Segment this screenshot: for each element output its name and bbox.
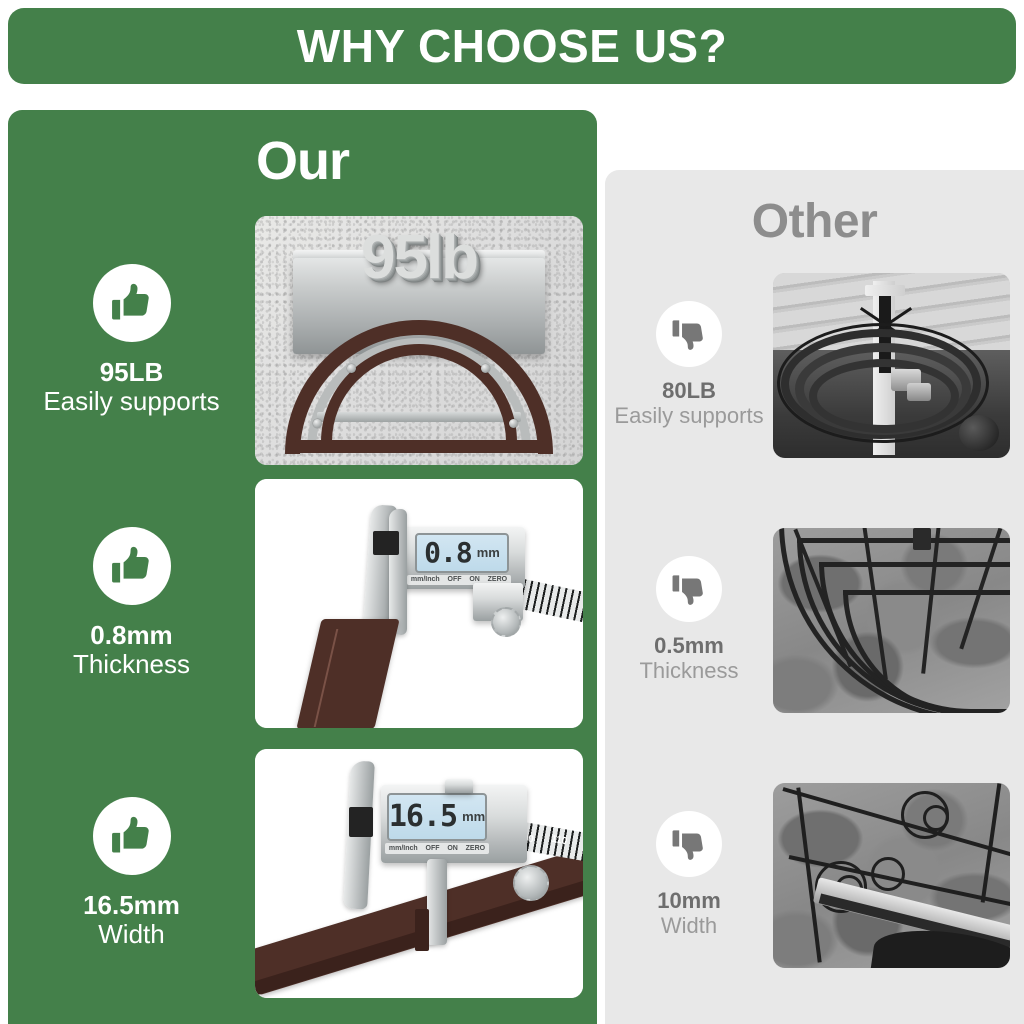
other-row-1-value: 80LB [614, 379, 763, 404]
other-row-2-value: 0.5mm [639, 634, 738, 659]
our-row-2: 0.8mm Thickness 0.8 mm mm/Inch [8, 478, 597, 728]
our-row-1-info: 95LB Easily supports [8, 264, 255, 416]
page-title: WHY CHOOSE US? [297, 23, 727, 69]
other-row-2-info: 0.5mm Thickness [605, 556, 773, 683]
other-row-1: 80LB Easily supports [605, 270, 1024, 460]
other-panel: Other 80LB Easily supports [605, 170, 1024, 1024]
caliper-btn-on: ON [447, 845, 458, 852]
our-panel-heading: Our [8, 130, 597, 192]
our-row-2-metric: 0.8mm Thickness [73, 621, 190, 679]
other-row-2: 0.5mm Thickness [605, 525, 1024, 715]
our-row-2-info: 0.8mm Thickness [8, 527, 255, 679]
other-row-3-info: 10mm Width [605, 811, 773, 938]
scrollwork-basket-photo [773, 783, 1010, 968]
our-row-1-metric: 95LB Easily supports [43, 358, 219, 416]
load-weight-label: 95lb [255, 222, 583, 293]
other-row-3-metric: 10mm Width [657, 889, 721, 938]
our-row-3-metric: 16.5mm Width [83, 891, 180, 949]
caliper-btn-mm-inch: mm/Inch [411, 576, 440, 583]
thumbs-up-icon [93, 264, 171, 342]
our-row-1: 95LB Easily supports [8, 215, 597, 465]
our-panel: Our 95LB Easily supports [8, 110, 597, 1024]
header-banner: WHY CHOOSE US? [8, 8, 1016, 84]
caliper-thickness-photo: 0.8 mm mm/Inch OFF ON ZERO [255, 479, 583, 728]
our-row-3-value: 16.5mm [83, 891, 180, 920]
other-row-3-value: 10mm [657, 889, 721, 914]
caliper-scale-mark-110: 110 [550, 833, 568, 847]
our-row-3-desc: Width [83, 920, 180, 949]
caliper-reading-width: 16.5 [389, 799, 457, 834]
other-row-2-desc: Thickness [639, 659, 738, 684]
caliper-btn-mm-inch: mm/Inch [389, 845, 418, 852]
other-row-1-info: 80LB Easily supports [605, 301, 773, 428]
thumbs-down-icon [656, 556, 722, 622]
rusty-wire-basket-photo [773, 528, 1010, 713]
caliper-reading-thickness: 0.8 [424, 536, 472, 569]
other-panel-heading: Other [605, 194, 1024, 249]
other-row-3: 10mm Width [605, 778, 1024, 972]
caliper-width-photo: 100 110 16.5 mm mm/Inch OFF ON ZERO [255, 749, 583, 998]
caliper-btn-on: ON [469, 576, 480, 583]
caliper-btn-zero: ZERO [466, 845, 485, 852]
our-row-1-desc: Easily supports [43, 387, 219, 416]
bracket-load-test-95lb-photo: 95lb [255, 216, 583, 465]
our-row-2-desc: Thickness [73, 650, 190, 679]
thumbs-down-icon [656, 301, 722, 367]
thumbs-up-icon [93, 797, 171, 875]
our-row-2-value: 0.8mm [73, 621, 190, 650]
caliper-btn-off: OFF [426, 845, 440, 852]
our-row-3-info: 16.5mm Width [8, 797, 255, 949]
our-row-1-value: 95LB [43, 358, 219, 387]
caliper-btn-off: OFF [448, 576, 462, 583]
other-row-3-desc: Width [657, 914, 721, 939]
caliper-btn-zero: ZERO [488, 576, 507, 583]
comparison-infographic: WHY CHOOSE US? Our 95LB Easily supports [0, 0, 1024, 1024]
other-row-2-metric: 0.5mm Thickness [639, 634, 738, 683]
caliper-unit-width: mm [462, 809, 485, 824]
caliper-unit-thickness: mm [477, 545, 500, 560]
our-row-3: 16.5mm Width 100 110 16.5 [8, 748, 597, 998]
other-row-1-metric: 80LB Easily supports [614, 379, 763, 428]
hose-hanger-siding-photo [773, 273, 1010, 458]
thumbs-up-icon [93, 527, 171, 605]
thumbs-down-icon [656, 811, 722, 877]
other-row-1-desc: Easily supports [614, 404, 763, 429]
